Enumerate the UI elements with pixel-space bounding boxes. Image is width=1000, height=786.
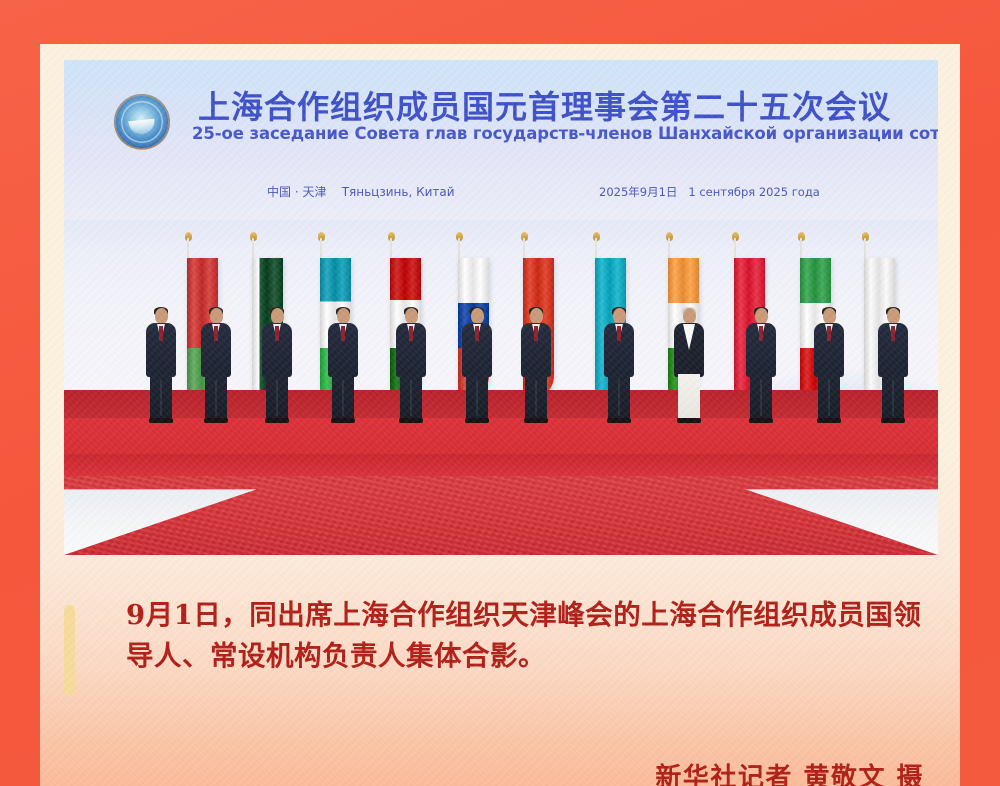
leader-figure — [812, 308, 846, 424]
leader-shoes — [881, 418, 905, 423]
caption-text: 9月1日，同出席上海合作组织天津峰会的上海合作组织成员国领导人、常设机构负责人集… — [126, 595, 928, 676]
leader-shoes — [607, 418, 631, 423]
leader-head — [887, 308, 900, 324]
summit-banner-sign: 上海合作组织成员国元首理事会第二十五次会议 25-ое заседание Со… — [64, 60, 938, 220]
leader-figure — [326, 308, 360, 424]
leader-shoes — [749, 418, 773, 423]
stage-riser-front — [64, 454, 938, 476]
leader-tie — [534, 326, 538, 341]
caption-block: 9月1日，同出席上海合作组织天津峰会的上海合作组织成员国领导人、常设机构负责人集… — [64, 589, 938, 769]
leader-legs — [525, 374, 547, 420]
leader-head — [337, 308, 350, 324]
caption-accent-bar — [64, 605, 75, 696]
banner-date-ru: 1 сентября 2025 года — [688, 185, 819, 199]
leader-head — [155, 308, 168, 324]
leader-legs — [678, 374, 700, 420]
leader-legs — [608, 374, 630, 420]
leader-head — [683, 308, 696, 324]
leader-shoes — [677, 418, 701, 423]
leader-shoes — [265, 418, 289, 423]
leader-shoes — [524, 418, 548, 423]
banner-title-zh: 上海合作组织成员国元首理事会第二十五次会议 — [198, 82, 891, 128]
leader-figure — [876, 308, 910, 424]
leader-tie — [617, 326, 621, 341]
leader-legs — [205, 374, 227, 420]
leader-tie — [827, 326, 831, 341]
outer-orange-frame: 上海合作组织成员国元首理事会第二十五次会议 25-ое заседание Со… — [0, 0, 1000, 786]
leaders-row — [64, 300, 938, 420]
leader-legs — [400, 374, 422, 420]
leader-head — [755, 308, 768, 324]
leader-tie — [409, 326, 413, 341]
leader-shoes — [817, 418, 841, 423]
leader-tie — [341, 326, 345, 341]
banner-location-ru: Тяньцзинь, Китай — [342, 185, 455, 199]
red-carpet — [64, 476, 938, 555]
leader-shoes — [399, 418, 423, 423]
banner-date: 2025年9月1日 1 сентября 2025 года — [599, 184, 820, 200]
leader-head — [471, 308, 484, 324]
leader-figure — [672, 308, 706, 424]
leader-legs — [466, 374, 488, 420]
leader-head — [530, 308, 543, 324]
summit-group-photo: 上海合作组织成员国元首理事会第二十五次会议 25-ое заседание Со… — [64, 60, 938, 555]
leader-figure — [744, 308, 778, 424]
leader-tie — [159, 326, 163, 341]
leader-figure — [144, 308, 178, 424]
leader-shoes — [465, 418, 489, 423]
banner-date-zh: 2025年9月1日 — [599, 185, 677, 199]
leader-figure — [260, 308, 294, 424]
leader-figure — [394, 308, 428, 424]
leader-figure — [460, 308, 494, 424]
leader-tie — [759, 326, 763, 341]
leader-legs — [750, 374, 772, 420]
leader-figure — [519, 308, 553, 424]
leader-head — [405, 308, 418, 324]
banner-location: 中国 · 天津 Тяньцзинь, Китай — [267, 183, 455, 200]
leader-legs — [150, 374, 172, 420]
leader-legs — [332, 374, 354, 420]
carpet-texture — [64, 476, 938, 555]
leader-shoes — [331, 418, 355, 423]
leader-figure — [602, 308, 636, 424]
leader-legs — [818, 374, 840, 420]
leader-head — [823, 308, 836, 324]
leader-legs — [882, 374, 904, 420]
leader-head — [613, 308, 626, 324]
leader-head — [210, 308, 223, 324]
leader-shoes — [204, 418, 228, 423]
leader-legs — [266, 374, 288, 420]
cream-card: 上海合作组织成员国元首理事会第二十五次会议 25-ое заседание Со… — [40, 44, 960, 786]
leader-tie — [891, 326, 895, 341]
banner-subtitle-ru: 25-ое заседание Совета глав государств-ч… — [192, 124, 938, 143]
photo-credit-byline: 新华社记者 黄敬文 摄 — [655, 757, 924, 786]
leader-tie — [475, 326, 479, 341]
leader-figure — [199, 308, 233, 424]
leader-tie — [214, 326, 218, 341]
banner-location-zh: 中国 · 天津 — [267, 185, 326, 199]
leader-tie — [275, 326, 279, 341]
sco-emblem-icon — [114, 94, 170, 150]
leader-head — [271, 308, 284, 324]
leader-shoes — [149, 418, 173, 423]
stage-riser-top — [64, 418, 938, 454]
